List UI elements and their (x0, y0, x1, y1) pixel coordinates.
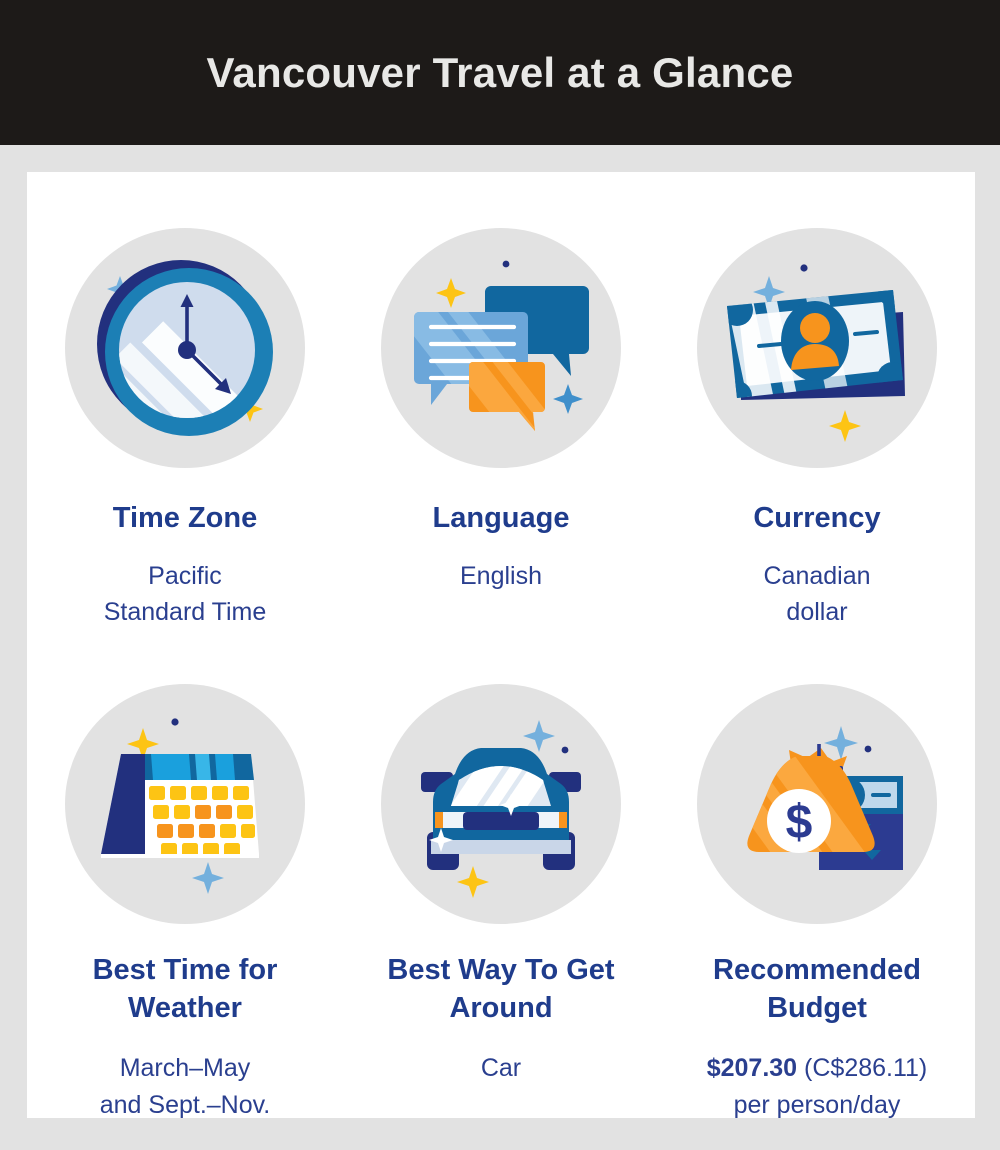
fact-card-best-time: Best Time for Weather March–May and Sept… (27, 630, 343, 1122)
budget-unit: per person/day (734, 1091, 901, 1119)
fact-card-budget: $ Recommended Budget $207.30 (C$286.11) … (659, 630, 975, 1122)
calendar-icon (65, 684, 305, 924)
facts-grid: Time Zone Pacific Standard Time (27, 172, 975, 1118)
fact-value-line: Pacific (148, 562, 222, 590)
fact-card-time-zone: Time Zone Pacific Standard Time (27, 172, 343, 630)
content-card: Time Zone Pacific Standard Time (27, 172, 975, 1118)
fact-value-time-zone: Pacific Standard Time (104, 558, 267, 631)
fact-value-line: dollar (786, 598, 847, 626)
fact-value-currency: Canadian dollar (763, 558, 870, 631)
speech-bubbles-icon (381, 228, 621, 468)
fact-value-best-way: Car (481, 1050, 521, 1086)
fact-title-best-way: Best Way To Get Around (351, 952, 651, 1028)
fact-title-budget: Recommended Budget (667, 952, 967, 1028)
fact-card-currency: Currency Canadian dollar (659, 172, 975, 630)
header-bar: Vancouver Travel at a Glance (0, 0, 1000, 145)
fact-value-line: Standard Time (104, 598, 267, 626)
fact-value-line: and Sept.–Nov. (100, 1091, 270, 1119)
fact-title-best-time: Best Time for Weather (35, 952, 335, 1028)
budget-amount-cad: (C$286.11) (797, 1054, 927, 1082)
money-bag-icon: $ (697, 684, 937, 924)
car-icon (381, 684, 621, 924)
clock-icon (65, 228, 305, 468)
fact-card-language: Language English (343, 172, 659, 630)
budget-amount-usd: $207.30 (707, 1054, 797, 1082)
banknotes-icon (697, 228, 937, 468)
fact-value-line: Canadian (763, 562, 870, 590)
infographic-root: Vancouver Travel at a Glance (0, 0, 1000, 1150)
fact-title-time-zone: Time Zone (113, 500, 258, 538)
svg-text:$: $ (786, 796, 813, 849)
fact-value-best-time: March–May and Sept.–Nov. (100, 1050, 270, 1123)
fact-value-line: March–May (120, 1054, 251, 1082)
fact-card-best-way: Best Way To Get Around Car (343, 630, 659, 1122)
page-title: Vancouver Travel at a Glance (207, 52, 794, 94)
fact-title-currency: Currency (753, 500, 880, 538)
fact-value-budget: $207.30 (C$286.11) per person/day (707, 1050, 928, 1123)
fact-value-language: English (460, 558, 542, 594)
fact-title-language: Language (433, 500, 570, 538)
